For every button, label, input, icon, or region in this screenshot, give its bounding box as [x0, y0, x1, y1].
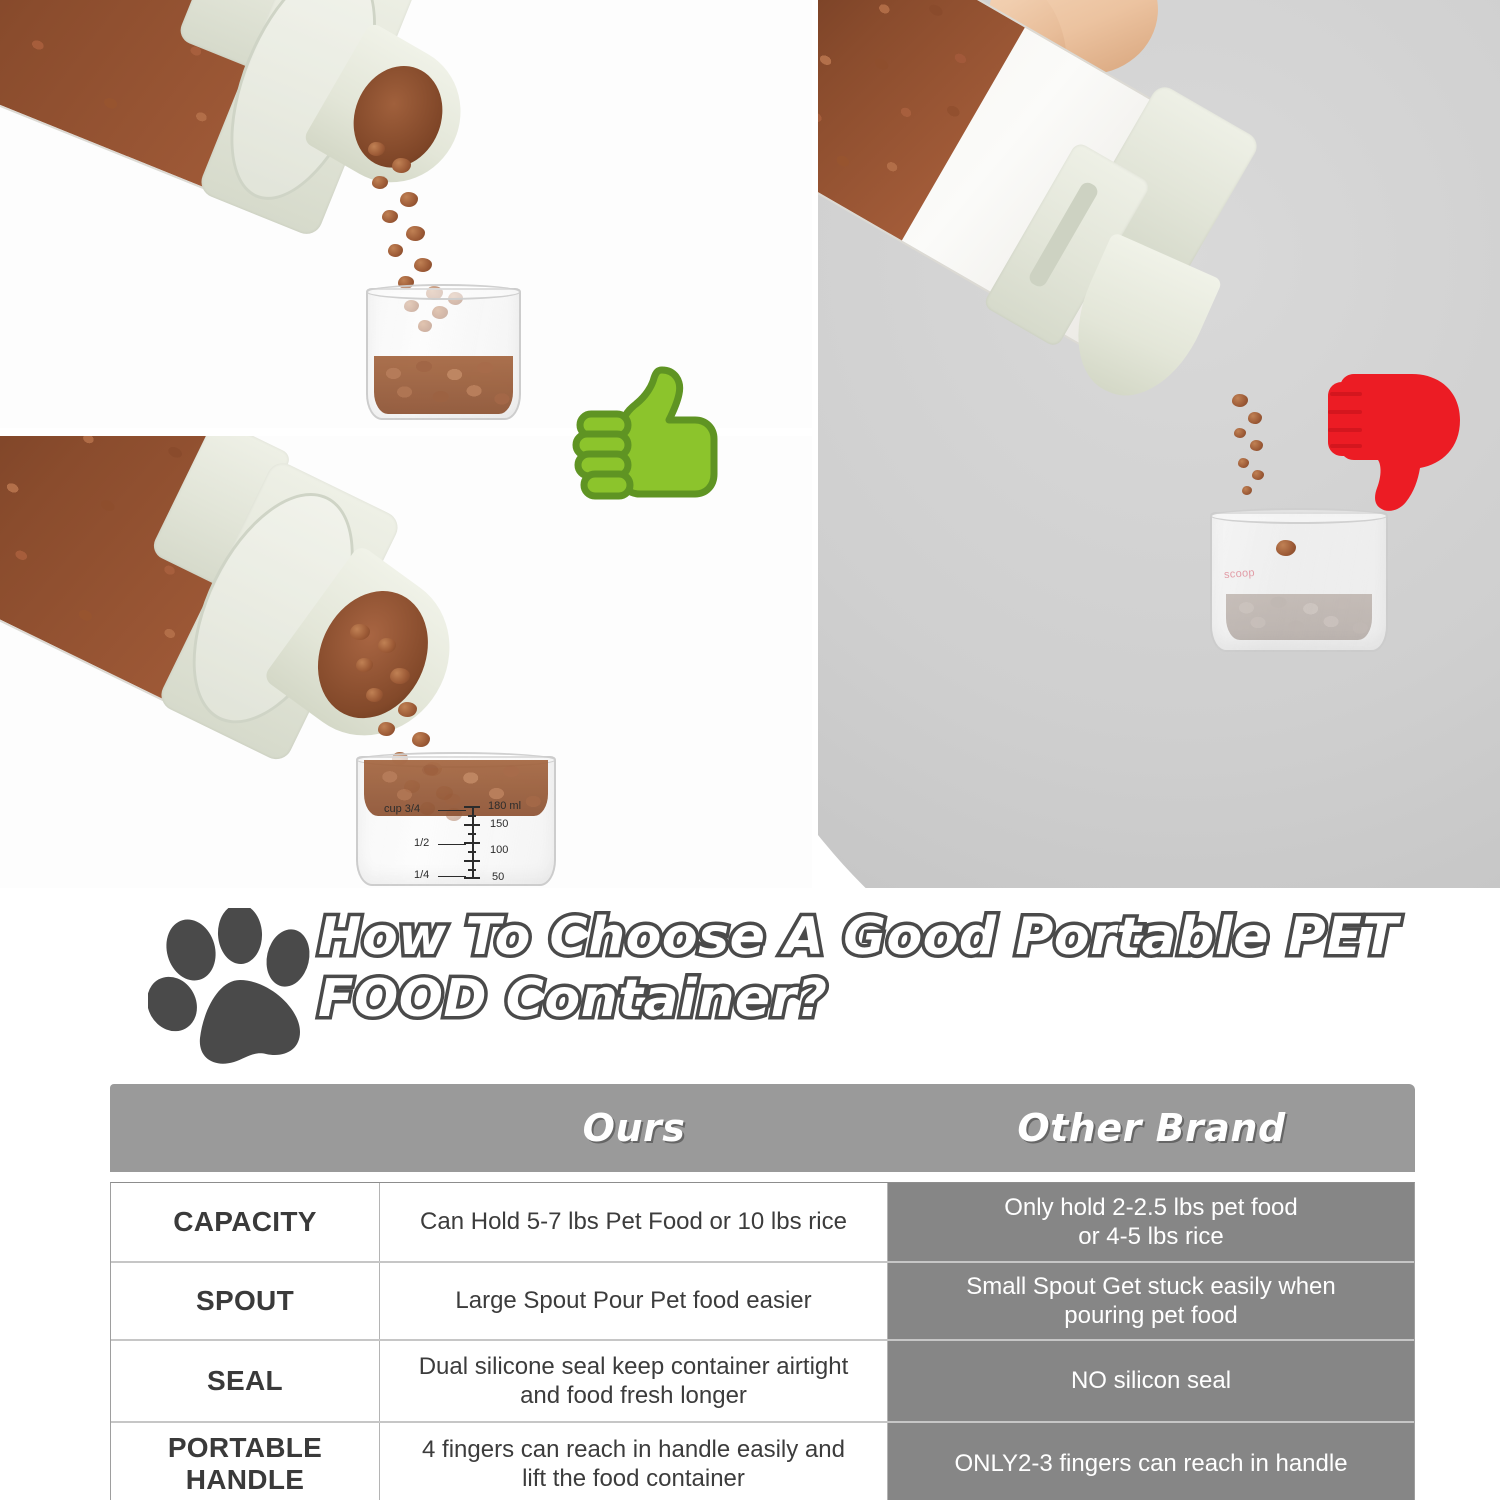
table-body: CAPACITY Can Hold 5-7 lbs Pet Food or 10… — [110, 1182, 1415, 1500]
table-row: PORTABLEHANDLE 4 fingers can reach in ha… — [111, 1423, 1414, 1500]
cell-feature-portable-handle: PORTABLEHANDLE — [111, 1423, 380, 1500]
kibble-fill — [818, 0, 1025, 240]
header-label-ours: Ours — [583, 1106, 686, 1150]
header-cell-ours: Ours — [380, 1084, 888, 1172]
cell-other-spout: Small Spout Get stuck easily whenpouring… — [888, 1263, 1414, 1339]
scale-label-180ml: 180 ml — [488, 800, 521, 812]
header-label-other-brand: Other Brand — [1017, 1106, 1285, 1150]
header-cell-other-brand: Other Brand — [888, 1084, 1415, 1172]
measuring-cup-top-left — [366, 288, 521, 420]
page-title-line-2: FOOD Container? — [318, 968, 1428, 1030]
cell-other-portable-handle: ONLY2-3 fingers can reach in handle — [888, 1423, 1414, 1500]
scale-label-50: 50 — [492, 871, 504, 883]
table-row: SPOUT Large Spout Pour Pet food easier S… — [111, 1263, 1414, 1341]
page-title: How To Choose A Good Portable PET FOOD C… — [318, 906, 1428, 1030]
table-row: SEAL Dual silicone seal keep container a… — [111, 1341, 1414, 1423]
table-header-row: Ours Other Brand — [110, 1084, 1415, 1172]
measuring-cup-scale: cup 3/4 1/2 1/4 180 ml 150 100 50 — [356, 756, 556, 886]
product-photo-area: cup 3/4 1/2 1/4 180 ml 150 100 50 — [0, 0, 1500, 888]
cell-other-seal: NO silicon seal — [888, 1341, 1414, 1421]
thumbs-down-icon — [1308, 368, 1476, 516]
thumbs-up-icon — [566, 366, 726, 504]
photo-panel-top-left — [0, 0, 812, 428]
cell-other-capacity: Only hold 2-2.5 lbs pet foodor 4-5 lbs r… — [888, 1183, 1414, 1261]
comparison-table: Ours Other Brand CAPACITY Can Hold 5-7 l… — [110, 1084, 1415, 1500]
cup-kibble — [374, 356, 513, 414]
pet-food-container-top-left — [0, 0, 493, 291]
header-body-gap — [110, 1172, 1415, 1182]
cell-ours-portable-handle: 4 fingers can reach in handle easily and… — [380, 1423, 888, 1500]
table-row: CAPACITY Can Hold 5-7 lbs Pet Food or 10… — [111, 1183, 1414, 1263]
scale-label-100: 100 — [490, 844, 508, 856]
measuring-cup-right: scoop — [1210, 512, 1388, 652]
cup-rim — [366, 284, 521, 300]
cup-kibble — [1226, 594, 1372, 640]
cup-scoop-text: scoop — [1224, 567, 1256, 581]
cell-ours-spout: Large Spout Pour Pet food easier — [380, 1263, 888, 1339]
scale-label-150: 150 — [490, 818, 508, 830]
scale-label-half: 1/2 — [414, 837, 429, 849]
measuring-cup-bottom-left: cup 3/4 1/2 1/4 180 ml 150 100 50 — [356, 756, 556, 888]
scale-label-quarter: 1/4 — [414, 869, 429, 881]
cell-feature-spout: SPOUT — [111, 1263, 380, 1339]
cell-feature-capacity: CAPACITY — [111, 1183, 380, 1261]
cell-ours-capacity: Can Hold 5-7 lbs Pet Food or 10 lbs rice — [380, 1183, 888, 1261]
header-cell-feature — [110, 1084, 380, 1172]
infographic-page: cup 3/4 1/2 1/4 180 ml 150 100 50 — [0, 0, 1500, 1500]
scale-label-cup-three-quarter: cup 3/4 — [384, 803, 420, 815]
section-title-row: How To Choose A Good Portable PET FOOD C… — [0, 900, 1500, 1065]
comparison-section: How To Choose A Good Portable PET FOOD C… — [0, 888, 1500, 1500]
cell-ours-seal: Dual silicone seal keep container airtig… — [380, 1341, 888, 1421]
cell-feature-seal: SEAL — [111, 1341, 380, 1421]
paw-print-icon — [148, 908, 333, 1070]
page-title-line-1: How To Choose A Good Portable PET — [318, 906, 1428, 968]
photo-panel-right: scoop — [818, 0, 1500, 888]
